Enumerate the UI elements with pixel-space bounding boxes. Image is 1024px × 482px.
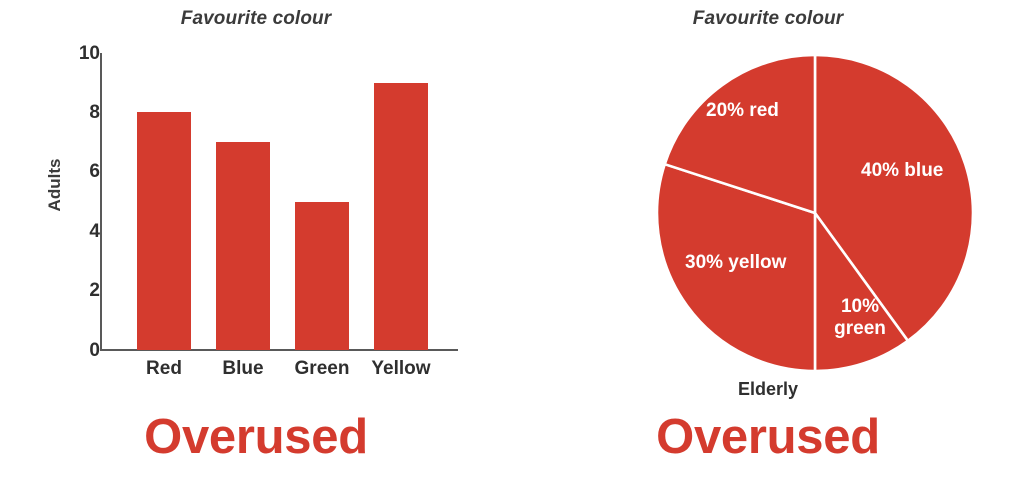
pie-label-blue: 40% blue bbox=[861, 160, 943, 182]
x-label-red: Red bbox=[122, 358, 206, 380]
pie-label-red: 20% red bbox=[706, 100, 779, 122]
pie-bottom-label: Elderly bbox=[512, 379, 1024, 400]
pie-label-green: 10% green bbox=[829, 296, 891, 341]
pie-label-yellow: 30% yellow bbox=[685, 252, 786, 274]
bar-blue[interactable] bbox=[216, 142, 270, 350]
bar-green[interactable] bbox=[295, 202, 349, 351]
y-tick-4: 4 bbox=[66, 222, 100, 241]
bar-chart-panel: Favourite colour Adults 10 8 6 4 2 0 R bbox=[0, 0, 512, 482]
y-axis-tick-labels: 10 8 6 4 2 0 bbox=[66, 0, 100, 400]
x-label-yellow: Yellow bbox=[359, 358, 443, 380]
y-axis-title: Adults bbox=[45, 125, 65, 245]
bar-chart: Adults 10 8 6 4 2 0 Red Blue Green Yello bbox=[0, 0, 512, 400]
chart-comparison-figure: Favourite colour Adults 10 8 6 4 2 0 R bbox=[0, 0, 1024, 482]
y-tick-8: 8 bbox=[66, 103, 100, 122]
pie-chart-overused-caption: Overused bbox=[512, 409, 1024, 465]
y-tick-10: 10 bbox=[66, 44, 100, 63]
pie-chart-svg bbox=[512, 0, 1024, 400]
bar-yellow[interactable] bbox=[374, 83, 428, 350]
x-label-green: Green bbox=[280, 358, 364, 380]
y-tick-2: 2 bbox=[66, 281, 100, 300]
y-tick-6: 6 bbox=[66, 162, 100, 181]
bar-chart-overused-caption: Overused bbox=[0, 409, 512, 465]
y-axis-line bbox=[100, 53, 102, 351]
x-label-blue: Blue bbox=[201, 358, 285, 380]
pie-chart: 20% red 40% blue 30% yellow 10% green El… bbox=[512, 0, 1024, 400]
y-tick-0: 0 bbox=[66, 341, 100, 360]
bar-red[interactable] bbox=[137, 112, 191, 350]
pie-chart-panel: Favourite colour 20% red 40% blue 30% ye… bbox=[512, 0, 1024, 482]
